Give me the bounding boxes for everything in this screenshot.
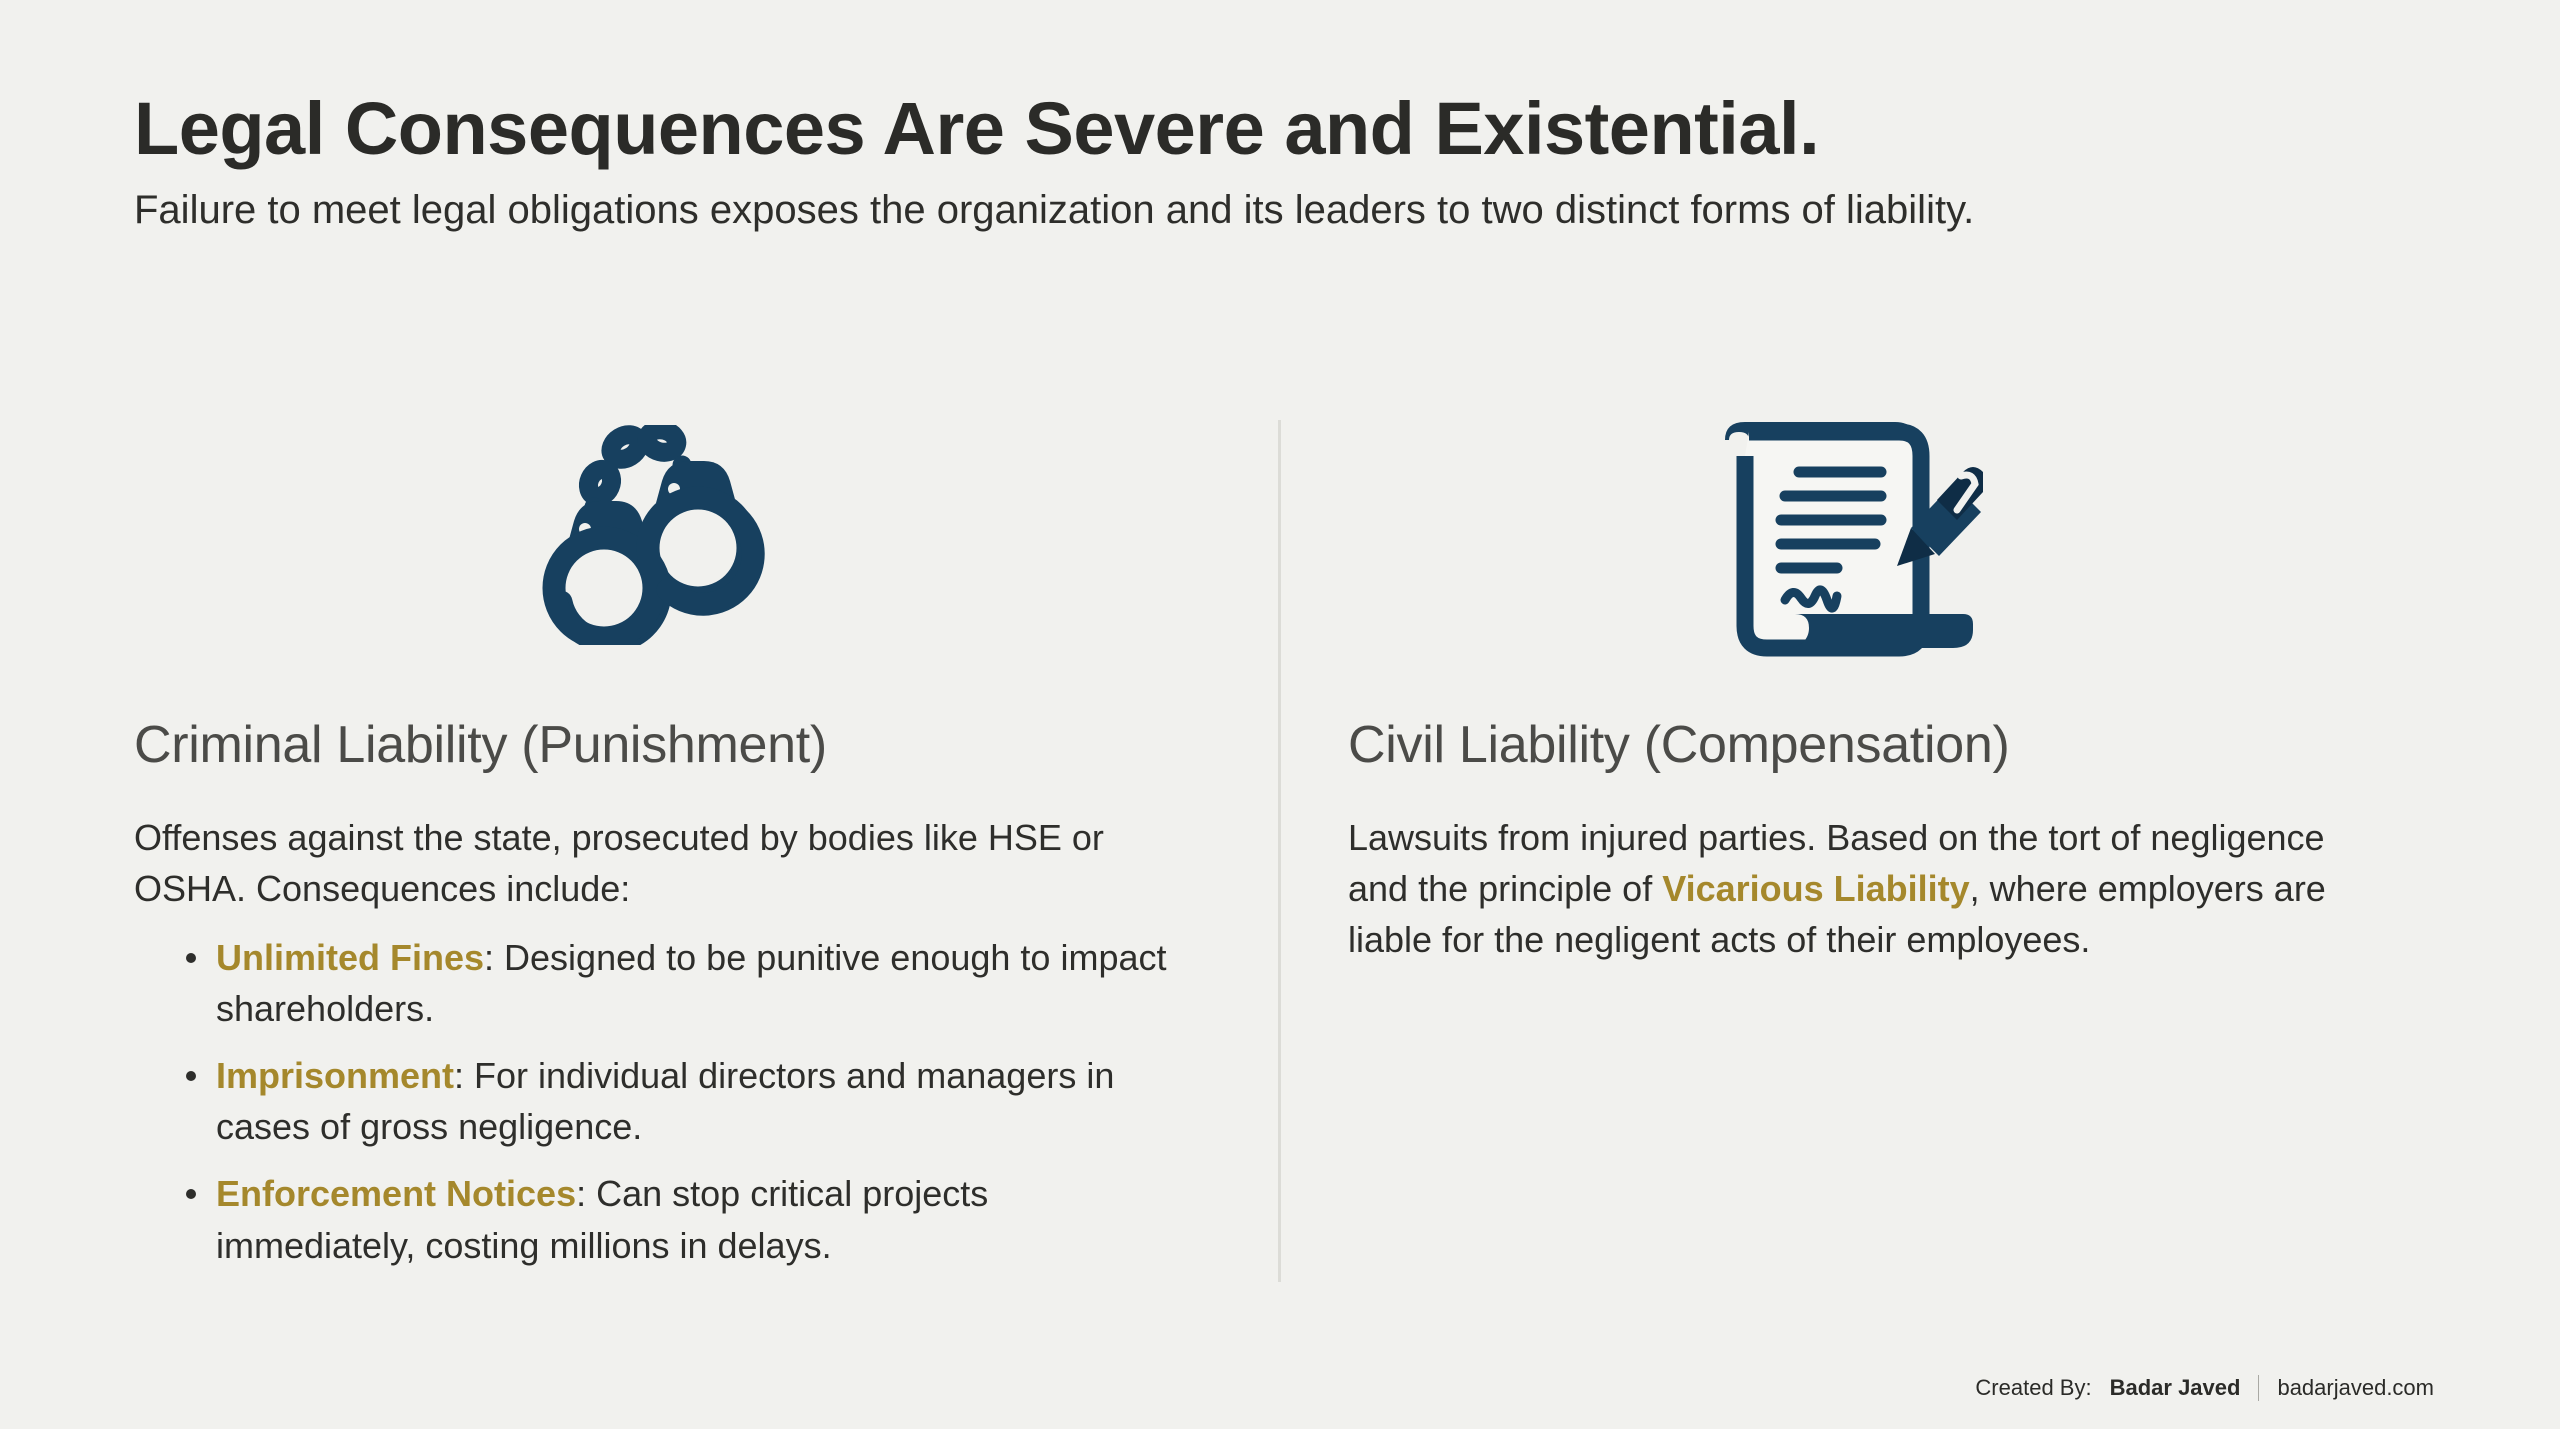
- footer-author-name: Badar Javed: [2110, 1375, 2241, 1401]
- column-body-civil: Lawsuits from injured parties. Based on …: [1348, 812, 2350, 965]
- column-civil-liability: Civil Liability (Compensation) Lawsuits …: [1242, 400, 2350, 965]
- slide-root: Legal Consequences Are Severe and Existe…: [0, 0, 2560, 1429]
- bullet-term: Unlimited Fines: [216, 937, 484, 978]
- list-item: Unlimited Fines: Designed to be punitive…: [186, 932, 1172, 1034]
- column-heading-civil: Civil Liability (Compensation): [1348, 716, 2350, 776]
- list-item: Imprisonment: For individual directors a…: [186, 1050, 1172, 1152]
- criminal-bullet-list: Unlimited Fines: Designed to be punitive…: [134, 932, 1172, 1271]
- handcuffs-icon: [134, 400, 1172, 670]
- bullet-term: Imprisonment: [216, 1055, 454, 1096]
- page-title: Legal Consequences Are Severe and Existe…: [134, 90, 2424, 168]
- list-item: Enforcement Notices: Can stop critical p…: [186, 1168, 1172, 1270]
- column-criminal-liability: Criminal Liability (Punishment) Offenses…: [134, 400, 1242, 1271]
- civil-body-highlight: Vicarious Liability: [1662, 868, 1969, 909]
- columns-container: Criminal Liability (Punishment) Offenses…: [134, 400, 2434, 1271]
- column-heading-criminal: Criminal Liability (Punishment): [134, 716, 1172, 776]
- footer-credit: Created By: Badar Javed badarjaved.com: [1975, 1375, 2434, 1401]
- footer-website: badarjaved.com: [2277, 1375, 2434, 1401]
- contract-pen-icon: [1348, 400, 2350, 670]
- slide-header: Legal Consequences Are Severe and Existe…: [134, 90, 2424, 237]
- bullet-term: Enforcement Notices: [216, 1173, 576, 1214]
- column-body-criminal: Offenses against the state, prosecuted b…: [134, 812, 1172, 914]
- footer-created-by-label: Created By:: [1975, 1375, 2091, 1401]
- footer-separator: [2258, 1375, 2259, 1401]
- page-subtitle: Failure to meet legal obligations expose…: [134, 184, 2404, 237]
